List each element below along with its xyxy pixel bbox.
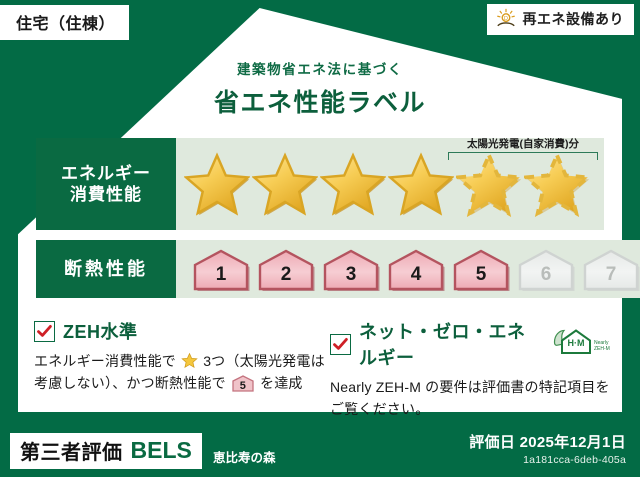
evaluation-date: 評価日 2025年12月1日	[469, 431, 626, 452]
grade-value: 3	[346, 264, 357, 291]
insulation-label-text: 断熱性能	[64, 258, 148, 281]
note-right-head: ネット・ゼロ・エネルギー H·M Nearly ZEH-M	[330, 318, 614, 370]
star-rating	[176, 151, 604, 217]
energy-stars-area: 太陽光発電(自家消費)分	[176, 138, 604, 230]
grade-badge-7: 7	[580, 247, 640, 291]
insulation-label: 断熱性能	[36, 240, 176, 298]
star-icon-filled	[252, 151, 318, 217]
energy-label-line2: 消費性能	[70, 184, 142, 205]
energy-performance-label: 住宅（住棟） D 再エネ設備あり 建築物省エネ法に基づく 省エネ性能ラベル	[0, 0, 640, 477]
grade-value: 4	[411, 264, 422, 291]
grade-value: 1	[216, 264, 227, 291]
grade-value: 7	[606, 264, 617, 291]
grade-badge-1: 1	[190, 247, 252, 291]
star-icon-filled	[320, 151, 386, 217]
title-block: 建築物省エネ法に基づく 省エネ性能ラベル	[0, 58, 640, 119]
checkbox-net-zero-energy	[330, 334, 351, 355]
star-icon-filled	[388, 151, 454, 217]
grade-badge-6: 6	[515, 247, 577, 291]
third-party-eval-label: 第三者評価	[20, 436, 123, 465]
footer-meta: 評価日 2025年12月1日 1a181cca-6deb-405a	[469, 431, 626, 466]
note-left-head: ZEH水準	[34, 318, 326, 344]
grade-value: 5	[476, 264, 487, 291]
star-icon-filled	[184, 151, 250, 217]
inline-grade-badge: 5	[232, 375, 254, 392]
svg-text:D: D	[504, 16, 508, 22]
insulation-grades-area: 1234567	[176, 240, 640, 298]
note-net-zero-energy: ネット・ゼロ・エネルギー H·M Nearly ZEH-M Nearly ZEH…	[330, 318, 614, 420]
checkbox-zeh-standard	[34, 321, 55, 342]
footer: 第三者評価 BELS 恵比寿の森 評価日 2025年12月1日 1a181cca…	[0, 419, 640, 477]
grade-badge-2: 2	[255, 247, 317, 291]
energy-label-line1: エネルギー	[61, 163, 151, 184]
grade-value: 6	[541, 264, 552, 291]
bels-badge: 第三者評価 BELS	[10, 433, 202, 469]
energy-consumption-label: エネルギー 消費性能	[36, 138, 176, 230]
svg-text:ZEH-M: ZEH-M	[594, 346, 610, 352]
star-icon-solar	[524, 151, 590, 217]
svg-text:H·M: H·M	[568, 338, 585, 348]
renewable-energy-badge: D 再エネ設備あり	[487, 4, 635, 35]
page-title: 省エネ性能ラベル	[0, 83, 640, 119]
note-zeh-standard: ZEH水準 エネルギー消費性能で 3つ（太陽光発電は考慮しない）、かつ断熱性能で…	[34, 318, 326, 394]
grade-badge-3: 3	[320, 247, 382, 291]
note-left-body-part3: を達成	[260, 375, 303, 391]
note-right-title: ネット・ゼロ・エネルギー	[359, 318, 540, 370]
grade-scale: 1234567	[176, 247, 640, 291]
renewable-badge-label: 再エネ設備あり	[523, 9, 625, 29]
building-type-tag: 住宅（住棟）	[0, 5, 129, 40]
title-subtitle: 建築物省エネ法に基づく	[0, 58, 640, 78]
star-icon	[181, 352, 198, 369]
grade-badge-4: 4	[385, 247, 447, 291]
zeh-m-house-icon: H·M Nearly ZEH-M	[552, 328, 614, 361]
star-icon-solar	[456, 151, 522, 217]
insulation-row: 断熱性能 1234567	[36, 240, 604, 298]
note-left-title: ZEH水準	[63, 318, 138, 344]
note-left-body: エネルギー消費性能で 3つ（太陽光発電は考慮しない）、かつ断熱性能で 5 を達成	[34, 351, 326, 394]
property-name: 恵比寿の森	[213, 447, 276, 466]
energy-consumption-row: エネルギー 消費性能 太陽光発電(自家消費)分	[36, 138, 604, 230]
grade-value: 2	[281, 264, 292, 291]
sun-icon: D	[495, 8, 517, 30]
bels-wordmark: BELS	[131, 437, 192, 464]
grade-badge-5: 5	[450, 247, 512, 291]
note-left-body-part1: エネルギー消費性能で	[34, 353, 176, 369]
inline-grade-value: 5	[232, 381, 254, 392]
evaluation-id: 1a181cca-6deb-405a	[469, 454, 626, 466]
note-right-body: Nearly ZEH-M の要件は評価書の特記項目をご覧ください。	[330, 377, 614, 420]
solar-bracket-label: 太陽光発電(自家消費)分	[448, 136, 598, 151]
